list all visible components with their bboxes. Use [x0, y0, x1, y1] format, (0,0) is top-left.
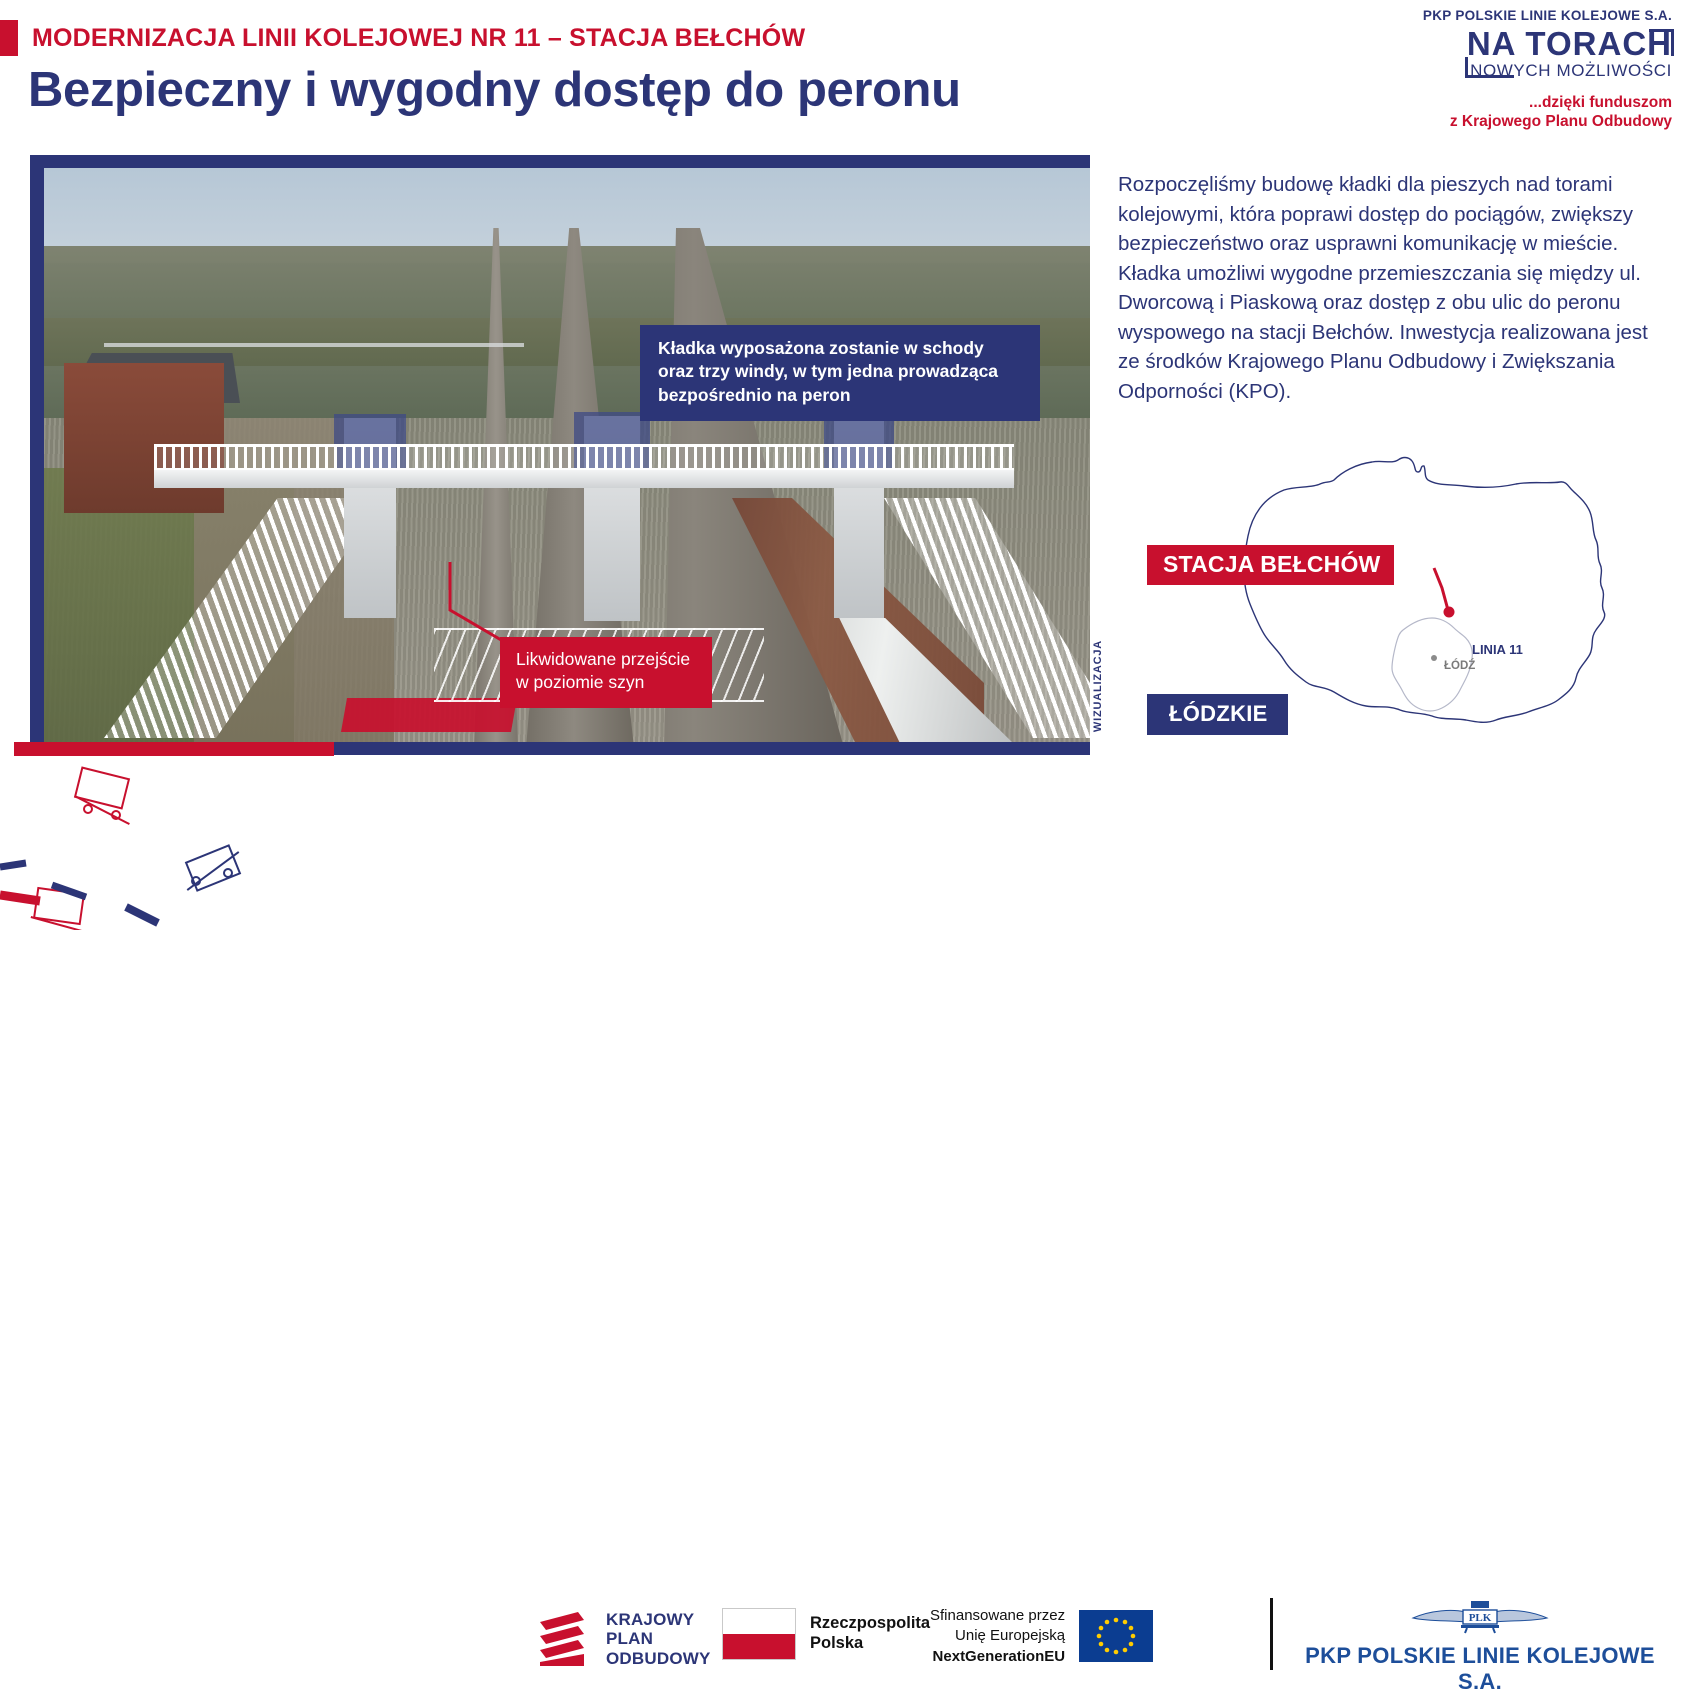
- poland-outline-path: [1244, 458, 1605, 723]
- svg-text:PLK: PLK: [1469, 1612, 1492, 1624]
- map-city-label: ŁÓDŹ: [1444, 660, 1475, 672]
- rp-line1: Rzeczpospolita: [810, 1614, 930, 1634]
- slogan-lockup: NA TORACH NOWYCH MOŻLIWOŚCI: [1467, 27, 1672, 79]
- funding-note-line1: ...dzięki funduszom: [1312, 93, 1672, 112]
- kicker-row: MODERNIZACJA LINII KOLEJOWEJ NR 11 – STA…: [0, 20, 805, 56]
- flag-white-band: [723, 1609, 795, 1634]
- funding-note: ...dzięki funduszom z Krajowego Planu Od…: [1312, 93, 1672, 132]
- kpo-mark-icon: [538, 1610, 592, 1668]
- photo-catenary-gantry: [104, 343, 524, 347]
- plk-logo: PLK PKP POLSKIE LINIE KOLEJOWE S.A.: [1300, 1600, 1660, 1695]
- european-union-logo: Sfinansowane przez Unię Europejską NextG…: [930, 1606, 1153, 1667]
- eu-flag-icon: [1079, 1610, 1153, 1662]
- photo-bottom-accent-bar: [14, 742, 334, 756]
- page-title: Bezpieczny i wygodny dostęp do peronu: [28, 62, 961, 118]
- red-callout-leader-line: [448, 560, 510, 646]
- poland-flag-icon: [722, 1608, 796, 1660]
- footer-logo-bar: KRAJOWY PLAN ODBUDOWY Rzeczpospolita Pol…: [0, 770, 1682, 930]
- lodz-city-dot: [1431, 655, 1437, 661]
- republic-of-poland-logo: Rzeczpospolita Polska: [722, 1608, 930, 1660]
- poland-map: STACJA BEŁCHÓW ŁÓDZKIE LINIA 11 ŁÓDŹ: [1120, 420, 1680, 750]
- infographic-root: MODERNIZACJA LINII KOLEJOWEJ NR 11 – STA…: [0, 0, 1682, 930]
- kicker-accent-bar: [0, 20, 18, 56]
- eu-funding-text: Sfinansowane przez Unię Europejską NextG…: [930, 1606, 1065, 1667]
- bracket-top-right-icon: [1649, 29, 1674, 56]
- kpo-line2: PLAN: [606, 1629, 711, 1648]
- funding-note-line2: z Krajowego Planu Odbudowy: [1312, 112, 1672, 131]
- station-marker-dot: [1444, 607, 1455, 618]
- eu-line2: Unię Europejską: [930, 1626, 1065, 1646]
- map-station-tag: STACJA BEŁCHÓW: [1147, 545, 1394, 585]
- kpo-logo-text: KRAJOWY PLAN ODBUDOWY: [606, 1610, 711, 1667]
- rp-line2: Polska: [810, 1634, 930, 1654]
- photo-footbridge-deck: [154, 468, 1014, 488]
- bracket-bottom-left-icon: [1465, 57, 1514, 78]
- kicker-text: MODERNIZACJA LINII KOLEJOWEJ NR 11 – STA…: [32, 24, 805, 53]
- photo-station-building: [64, 363, 224, 513]
- kpo-line3: ODBUDOWY: [606, 1649, 711, 1668]
- brand-company-name: PKP POLSKIE LINIE KOLEJOWE S.A.: [1312, 8, 1672, 23]
- eu-line1: Sfinansowane przez: [930, 1606, 1065, 1626]
- republic-of-poland-text: Rzeczpospolita Polska: [810, 1614, 930, 1654]
- callout-crossing-removal: Likwidowane przejście w poziomie szyn: [500, 637, 712, 708]
- plk-winged-emblem-icon: PLK: [1405, 1600, 1555, 1634]
- body-paragraph: Rozpoczęliśmy budowę kładki dla pieszych…: [1118, 170, 1674, 406]
- map-line-label: LINIA 11: [1472, 642, 1523, 657]
- photo-level-crossing-highlight: [341, 698, 517, 732]
- callout-footbridge-features: Kładka wyposażona zostanie w schody oraz…: [640, 325, 1040, 421]
- visualisation-label: WIZUALIZACJA: [1092, 640, 1104, 732]
- plk-logo-name: PKP POLSKIE LINIE KOLEJOWE S.A.: [1300, 1643, 1660, 1695]
- footer-divider: [1270, 1598, 1273, 1670]
- flag-red-band: [723, 1634, 795, 1659]
- railway-line-11: [1434, 568, 1448, 610]
- slogan-main: NA TORACH: [1467, 27, 1672, 60]
- brand-block: PKP POLSKIE LINIE KOLEJOWE S.A. NA TORAC…: [1312, 8, 1672, 132]
- map-region-tag: ŁÓDZKIE: [1147, 694, 1288, 735]
- kpo-line1: KRAJOWY: [606, 1610, 711, 1629]
- eu-line3: NextGenerationEU: [930, 1647, 1065, 1667]
- kpo-logo: KRAJOWY PLAN ODBUDOWY: [538, 1610, 711, 1668]
